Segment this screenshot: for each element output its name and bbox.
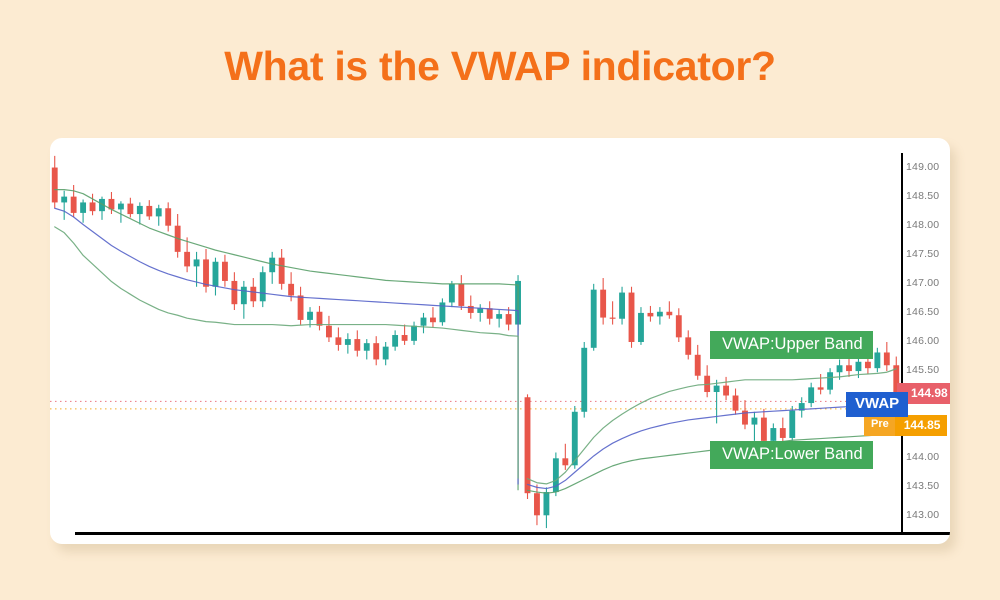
vwap-badge[interactable]: VWAP [846, 392, 908, 417]
price-tick: 143.00 [906, 509, 939, 521]
page-title: What is the VWAP indicator? [0, 44, 1000, 89]
price-tick: 146.00 [906, 335, 939, 347]
price-tick: 143.50 [906, 480, 939, 492]
pre-market-tag-group[interactable]: Pre 144.85 [864, 415, 947, 436]
price-tick: 146.50 [906, 306, 939, 318]
pre-market-price-tag: 144.85 [895, 415, 948, 436]
chart-card: 149.00148.50148.00147.50147.00146.50146.… [50, 138, 950, 544]
pre-market-badge: Pre [864, 415, 895, 436]
page-root: What is the VWAP indicator? 149.00148.50… [0, 0, 1000, 600]
vwap-lower-band-label: VWAP:Lower Band [710, 441, 873, 469]
price-tick: 148.00 [906, 219, 939, 231]
time-axis-line [75, 532, 950, 535]
price-tick: 144.00 [906, 451, 939, 463]
price-tick: 145.50 [906, 364, 939, 376]
price-tick: 149.00 [906, 161, 939, 173]
price-tick: 148.50 [906, 190, 939, 202]
price-tick: 147.00 [906, 277, 939, 289]
price-tick: 147.50 [906, 248, 939, 260]
price-scale[interactable]: 149.00148.50148.00147.50147.00146.50146.… [906, 138, 950, 544]
price-axis-line [901, 153, 903, 533]
vwap-upper-band-label: VWAP:Upper Band [710, 331, 873, 359]
